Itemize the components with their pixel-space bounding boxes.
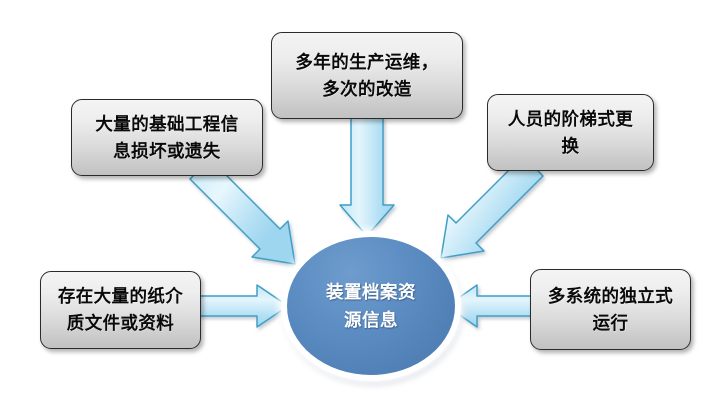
node-upper-left-label: 大量的基础工程信 息损坏或遗失 bbox=[87, 111, 246, 164]
node-lower-left-label: 存在大量的纸介 质文件或资料 bbox=[50, 283, 191, 336]
arrow-top-down bbox=[340, 118, 394, 236]
arrow-lower-left bbox=[200, 285, 288, 327]
node-lower-right-label: 多系统的独立式 运行 bbox=[540, 283, 681, 336]
center-hub[interactable]: 装置档案资 源信息 bbox=[281, 231, 461, 381]
node-lower-right[interactable]: 多系统的独立式 运行 bbox=[530, 269, 691, 350]
diagram-canvas: 多年的生产运维， 多次的改造 大量的基础工程信 息损坏或遗失 人员的阶梯式更 换… bbox=[0, 0, 723, 417]
center-hub-disc: 装置档案资 源信息 bbox=[287, 237, 455, 375]
node-lower-left[interactable]: 存在大量的纸介 质文件或资料 bbox=[40, 271, 201, 349]
node-top-label: 多年的生产运维， 多次的改造 bbox=[287, 49, 446, 102]
node-upper-right-label: 人员的阶梯式更 换 bbox=[500, 106, 641, 159]
center-hub-label: 装置档案资 源信息 bbox=[326, 278, 416, 335]
node-upper-right[interactable]: 人员的阶梯式更 换 bbox=[487, 94, 654, 171]
node-upper-left[interactable]: 大量的基础工程信 息损坏或遗失 bbox=[71, 99, 263, 176]
node-top[interactable]: 多年的生产运维， 多次的改造 bbox=[271, 32, 463, 119]
